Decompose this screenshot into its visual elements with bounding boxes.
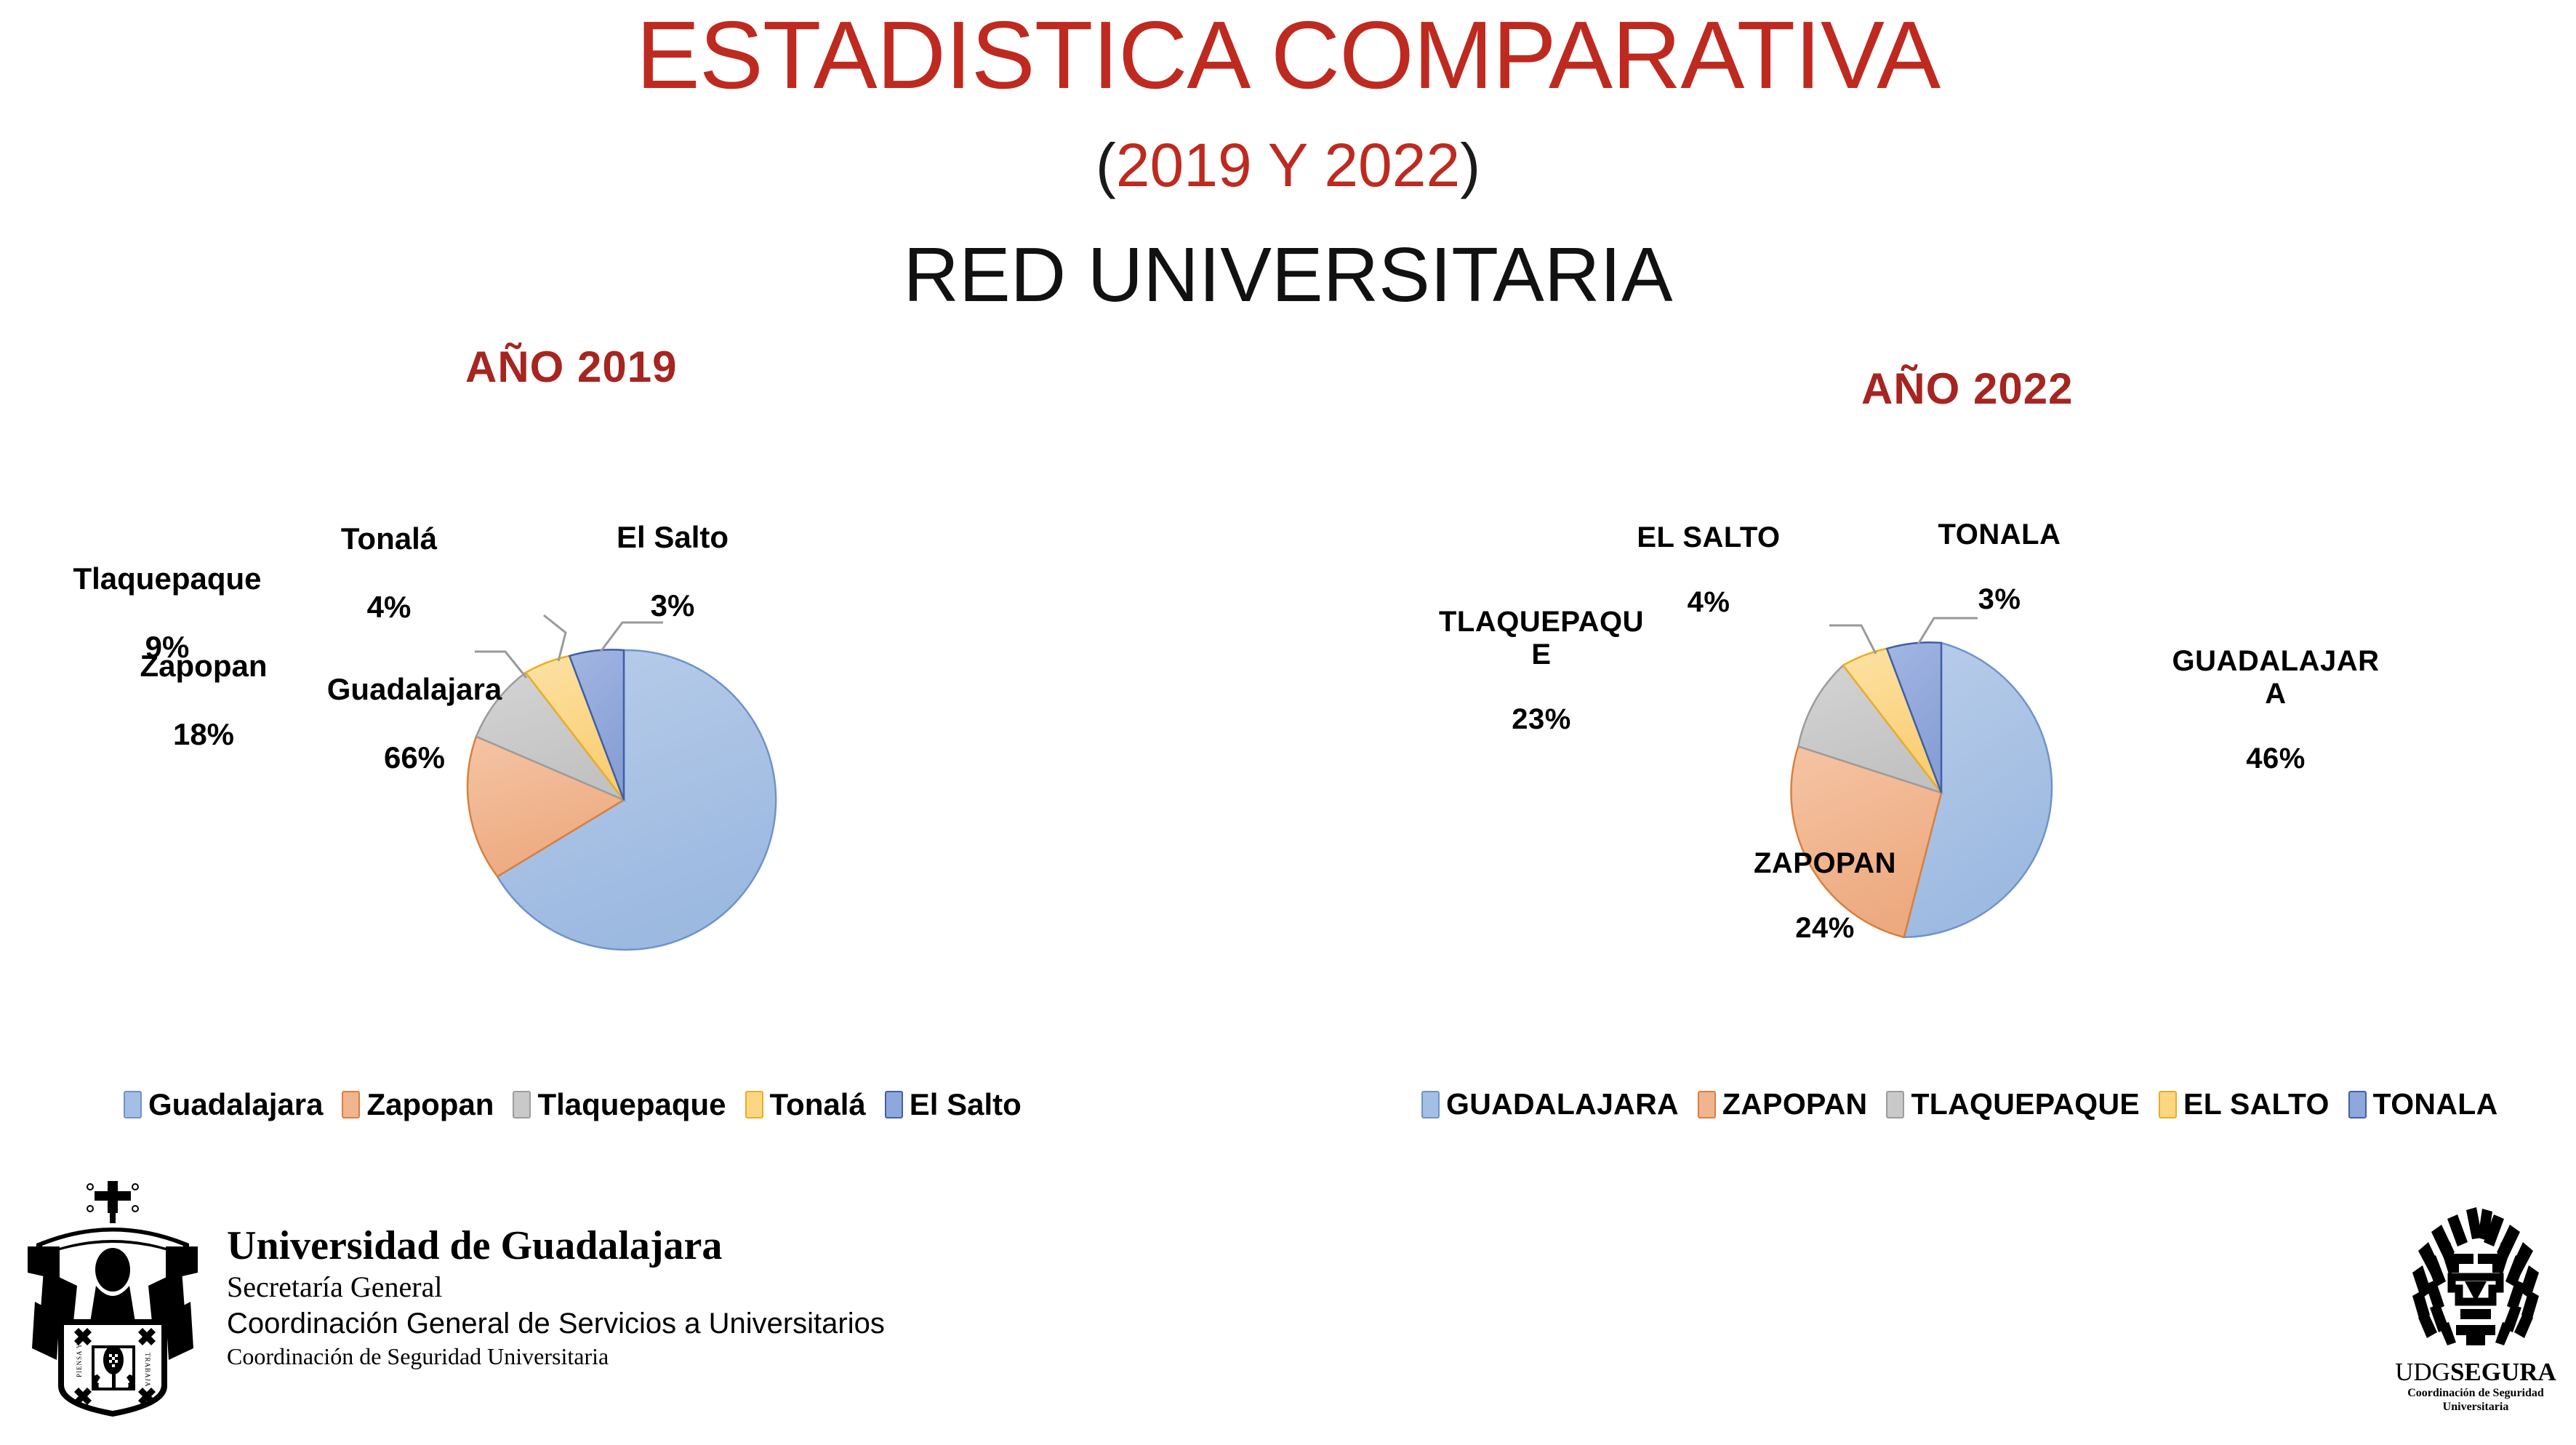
legend-swatch-tlaquepaque	[513, 1091, 531, 1118]
pie-label-guadalajara-pct: 66%	[384, 740, 445, 774]
pie-label-tonala-pct: 4%	[367, 590, 412, 624]
udeg-footer-text: Universidad de Guadalajara Secretaría Ge…	[227, 1177, 885, 1371]
legend-swatch-tonala-2022	[2348, 1091, 2367, 1118]
legend-label-tlaquepaque-2022: TLAQUEPAQUE	[1911, 1089, 2140, 1119]
udeg-line-coordinacion-seguridad: Coordinación de Seguridad Universitaria	[227, 1342, 885, 1371]
legend-item-guadalajara[interactable]: Guadalajara	[124, 1089, 323, 1120]
legend-item-el-salto[interactable]: El Salto	[885, 1089, 1022, 1120]
legend-label-zapopan: Zapopan	[366, 1089, 494, 1120]
pie-label-tlaquepaque-pct: 9%	[145, 630, 190, 664]
legend-label-tonala: Tonalá	[770, 1089, 866, 1120]
svg-text:TRABAJA: TRABAJA	[144, 1353, 151, 1388]
pie-label-zapopan-2022: ZAPOPAN 24%	[1680, 814, 1970, 945]
legend-item-tlaquepaque-2022[interactable]: TLAQUEPAQUE	[1886, 1089, 2140, 1119]
legend-label-tonala-2022: TONALA	[2373, 1089, 2498, 1119]
legend-label-el-salto-2022: EL SALTO	[2183, 1089, 2330, 1119]
pie-label-zapopan-2022-name: ZAPOPAN	[1754, 847, 1896, 879]
legend-swatch-el-salto-2022	[2159, 1091, 2177, 1118]
pie-label-guadalajara-2022-pct: 46%	[2246, 742, 2306, 774]
udgsegura-subtitle: Coordinación de Seguridad Universitaria	[2385, 1387, 2567, 1414]
legend-swatch-tlaquepaque-2022	[1886, 1091, 1904, 1118]
chart-legend-2019: Guadalajara Zapopan Tlaquepaque Tonalá E…	[124, 1089, 1022, 1120]
pie-label-guadalajara-2022: GUADALAJAR A 46%	[2123, 612, 2428, 775]
chart-panel-2022: GUADALAJAR A 46% ZAPOPAN 24% TLAQUEPAQU …	[1425, 451, 2530, 1178]
pie-label-el-salto-2022-pct: 4%	[1688, 586, 1730, 618]
legend-swatch-zapopan-2022	[1698, 1091, 1716, 1118]
chart-heading-2022: AÑO 2022	[1861, 364, 2073, 414]
lion-head-icon	[2407, 1200, 2545, 1356]
legend-item-guadalajara-2022[interactable]: GUADALAJARA	[1421, 1089, 1679, 1119]
pie-label-el-salto-2022: EL SALTO 4%	[1592, 489, 1825, 619]
legend-item-tlaquepaque[interactable]: Tlaquepaque	[513, 1089, 726, 1120]
chart-legend-2022: GUADALAJARA ZAPOPAN TLAQUEPAQUE EL SALTO…	[1421, 1089, 2498, 1119]
paren-close: )	[1460, 131, 1480, 199]
leader-line-el-salto	[601, 623, 663, 652]
udgsegura-wordmark: UDGSEGURA	[2385, 1359, 2567, 1385]
pie-label-el-salto-pct: 3%	[651, 588, 695, 623]
legend-swatch-guadalajara	[124, 1091, 142, 1118]
legend-swatch-el-salto	[885, 1091, 903, 1118]
pie-label-el-salto-name: El Salto	[617, 520, 729, 554]
legend-swatch-zapopan	[342, 1091, 360, 1118]
chart-heading-2019: AÑO 2019	[465, 342, 677, 392]
udgsegura-word-segura: SEGURA	[2450, 1358, 2556, 1386]
legend-swatch-guadalajara-2022	[1421, 1091, 1440, 1118]
chart-panel-2019: Guadalajara 66% Zapopan 18% Tlaquepaque …	[87, 451, 1149, 1178]
pie-label-zapopan-pct: 18%	[173, 717, 234, 751]
page-subtitle: RED UNIVERSITARIA	[0, 236, 2576, 313]
legend-item-zapopan-2022[interactable]: ZAPOPAN	[1698, 1089, 1868, 1119]
leader-line-el-salto-2022	[1829, 625, 1876, 654]
pie-label-el-salto: El Salto 3%	[567, 486, 778, 623]
udgsegura-word-udg: UDG	[2395, 1358, 2450, 1386]
udeg-line-coordinacion-general: Coordinación General de Servicios a Univ…	[227, 1305, 885, 1342]
svg-text:PIENSA Y: PIENSA Y	[76, 1343, 83, 1377]
legend-swatch-tonala	[745, 1091, 763, 1118]
udeg-line-secretaria: Secretaría General	[227, 1269, 885, 1305]
title-years-value: 2019 Y 2022	[1116, 131, 1460, 199]
pie-label-tlaquepaque-2022-pct: 23%	[1512, 703, 1571, 735]
legend-label-zapopan-2022: ZAPOPAN	[1722, 1089, 1868, 1119]
legend-item-el-salto-2022[interactable]: EL SALTO	[2159, 1089, 2330, 1119]
title-years: (2019 Y 2022)	[0, 135, 2576, 196]
slide-canvas: ESTADISTICA COMPARATIVA (2019 Y 2022) RE…	[0, 0, 2576, 1445]
paren-open: (	[1096, 131, 1116, 199]
pie-label-tonala-2022: TONALA 3%	[1883, 486, 2116, 616]
udeg-coat-of-arms-icon: PIENSA Y TRABAJA	[15, 1177, 211, 1417]
legend-item-tonala[interactable]: Tonalá	[745, 1089, 866, 1120]
udeg-footer-logo: PIENSA Y TRABAJA Universidad de Guadalaj…	[15, 1177, 885, 1417]
page-title: ESTADISTICA COMPARATIVA	[0, 7, 2576, 103]
udgsegura-logo-block: UDGSEGURA Coordinación de Seguridad Univ…	[2385, 1200, 2567, 1414]
leader-line-tonala-2022	[1918, 618, 1978, 644]
legend-label-guadalajara-2022: GUADALAJARA	[1446, 1089, 1679, 1119]
pie-label-guadalajara-2022-name: GUADALAJAR A	[2172, 645, 2380, 710]
legend-label-tlaquepaque: Tlaquepaque	[537, 1089, 726, 1120]
legend-item-zapopan[interactable]: Zapopan	[342, 1089, 494, 1120]
pie-label-el-salto-2022-name: EL SALTO	[1637, 521, 1780, 553]
legend-label-guadalajara: Guadalajara	[148, 1089, 323, 1120]
pie-label-tonala: Tonalá 4%	[284, 487, 494, 624]
legend-item-tonala-2022[interactable]: TONALA	[2348, 1089, 2498, 1119]
pie-label-tonala-name: Tonalá	[341, 521, 437, 556]
pie-label-tonala-2022-pct: 3%	[1978, 583, 2021, 615]
pie-label-tonala-2022-name: TONALA	[1938, 519, 2061, 551]
pie-label-zapopan-2022-pct: 24%	[1795, 912, 1855, 944]
pie-label-tlaquepaque-name: Tlaquepaque	[73, 561, 261, 596]
legend-label-el-salto: El Salto	[910, 1089, 1022, 1120]
udeg-line-university: Universidad de Guadalajara	[227, 1223, 885, 1269]
